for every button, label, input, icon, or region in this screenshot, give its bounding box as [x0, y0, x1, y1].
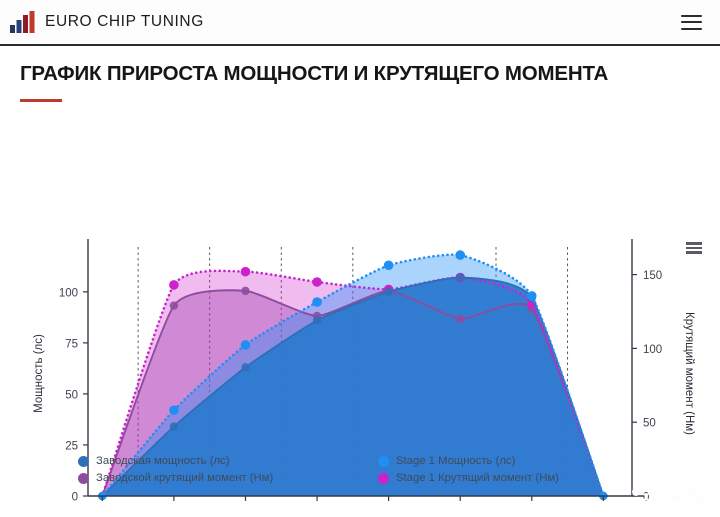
site-header: EURO CHIP TUNING [0, 0, 720, 46]
chart-legend: Заводская мощность (лс) Stage 1 Мощность… [78, 455, 638, 484]
legend-label-stock-torque: Заводской крутящий момент (Нм) [96, 472, 273, 484]
hamburger-menu-icon[interactable] [681, 15, 702, 30]
svg-text:Мощность (лс): Мощность (лс) [33, 334, 45, 413]
svg-text:100: 100 [59, 287, 78, 299]
legend-label-stock-power: Заводская мощность (лс) [96, 455, 229, 467]
svg-text:Крутящий момент (Нм): Крутящий момент (Нм) [683, 312, 695, 435]
svg-text:25: 25 [65, 440, 78, 452]
bar-chart-logo-icon [10, 11, 36, 33]
title-accent-rule [20, 99, 62, 102]
power-torque-chart[interactable]: 0255075100050100150100020003000400050006… [0, 106, 720, 506]
svg-text:0: 0 [72, 492, 78, 504]
title-block: ГРАФИК ПРИРОСТА МОЩНОСТИ И КРУТЯЩЕГО МОМ… [0, 46, 720, 102]
svg-text:75: 75 [65, 338, 78, 350]
legend-item-stage1-torque[interactable]: Stage 1 Крутящий момент (Нм) [378, 472, 638, 484]
svg-text:50: 50 [65, 389, 78, 401]
legend-item-stock-torque[interactable]: Заводской крутящий момент (Нм) [78, 472, 378, 484]
brand-name: EURO CHIP TUNING [45, 13, 204, 31]
legend-swatch-stage1-torque [378, 473, 389, 484]
chart-context-menu-icon[interactable] [686, 242, 702, 254]
page-title: ГРАФИК ПРИРОСТА МОЩНОСТИ И КРУТЯЩЕГО МОМ… [20, 62, 700, 86]
legend-item-stock-power[interactable]: Заводская мощность (лс) [78, 455, 378, 467]
chart-canvas: 0255075100050100150100020003000400050006… [0, 106, 720, 506]
legend-swatch-stock-power [78, 456, 89, 467]
legend-label-stage1-torque: Stage 1 Крутящий момент (Нм) [396, 472, 559, 484]
svg-text:0: 0 [643, 492, 649, 504]
legend-swatch-stock-torque [78, 473, 89, 484]
legend-item-stage1-power[interactable]: Stage 1 Мощность (лс) [378, 455, 638, 467]
brand-logo[interactable]: EURO CHIP TUNING [10, 11, 204, 33]
legend-swatch-stage1-power [378, 456, 389, 467]
svg-text:150: 150 [643, 270, 662, 282]
svg-text:100: 100 [643, 344, 662, 356]
svg-text:50: 50 [643, 418, 656, 430]
legend-label-stage1-power: Stage 1 Мощность (лс) [396, 455, 515, 467]
